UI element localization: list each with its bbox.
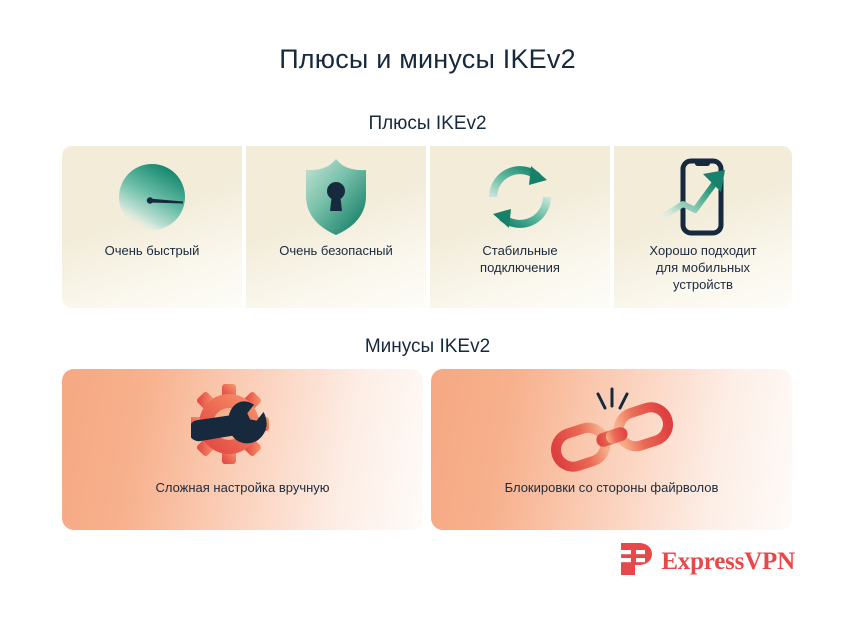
refresh-circle-icon <box>430 146 610 242</box>
speedometer-icon <box>62 146 242 242</box>
expressvpn-wordmark: ExpressVPN <box>661 548 795 576</box>
pro-card-very-secure: Очень безопасный <box>246 146 426 308</box>
con-card-label: Сложная настройка вручную <box>155 479 329 496</box>
pro-card-label: Очень безопасный <box>269 242 403 259</box>
con-card-label: Блокировки со стороны файрволов <box>505 479 719 496</box>
page-title: Плюсы и минусы IKEv2 <box>0 44 855 75</box>
con-card-manual-setup: Сложная настройка вручную <box>62 369 423 530</box>
pro-card-label: Очень быстрый <box>95 242 210 259</box>
pro-card-mobile-friendly: Хорошо подходит для мобильных устройств <box>614 146 792 308</box>
pro-card-label: Стабильные подключения <box>470 242 570 276</box>
mobile-growth-icon <box>614 146 792 242</box>
expressvpn-mark-icon <box>619 541 653 582</box>
cons-card-row: Сложная настройка вручную <box>62 369 793 530</box>
pro-card-very-fast: Очень быстрый <box>62 146 242 308</box>
con-card-firewall-blocks: Блокировки со стороны файрволов <box>431 369 792 530</box>
gear-wrench-icon <box>62 369 423 479</box>
expressvpn-logo[interactable]: ExpressVPN <box>619 541 795 582</box>
pros-section-heading: Плюсы IKEv2 <box>0 113 855 135</box>
pro-card-stable-connections: Стабильные подключения <box>430 146 610 308</box>
shield-lock-icon <box>246 146 426 242</box>
pros-card-row: Очень быстрый Очень безопасный <box>62 146 792 308</box>
broken-chain-icon <box>431 369 792 479</box>
pro-card-label: Хорошо подходит для мобильных устройств <box>639 242 766 293</box>
cons-section-heading: Минусы IKEv2 <box>0 336 855 358</box>
